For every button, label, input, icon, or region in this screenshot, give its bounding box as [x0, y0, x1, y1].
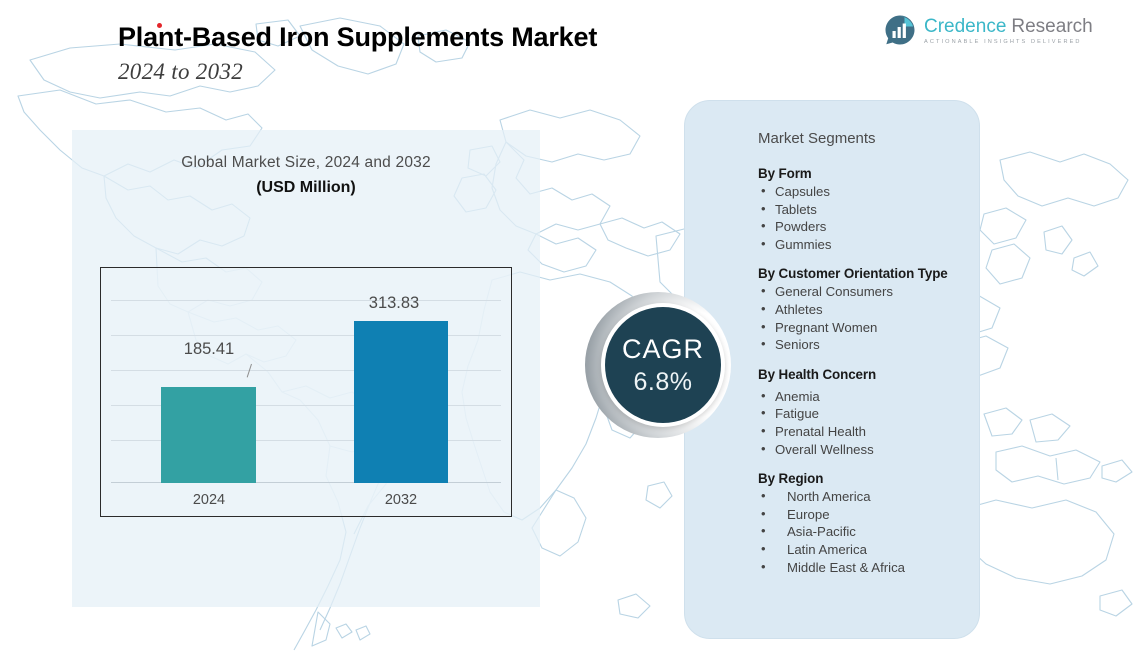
list-item: Athletes [758, 301, 978, 319]
segment-group-by-region: By Region North America Europe Asia-Paci… [758, 471, 978, 576]
chart-title: Global Market Size, 2024 and 2032 [72, 154, 540, 172]
bar-value-2032: 313.83 [334, 294, 454, 313]
segment-group-by-customer-orientation-type: By Customer Orientation Type General Con… [758, 266, 978, 353]
list-item: Overall Wellness [758, 441, 978, 459]
accent-dot-icon [157, 23, 162, 28]
segment-item-list: North America Europe Asia-Pacific Latin … [758, 488, 978, 576]
bar-2032 [354, 321, 448, 483]
logo-brand-secondary: Research [1011, 16, 1092, 37]
infographic-canvas: Plant-Based Iron Supplements Market 2024… [0, 0, 1137, 657]
list-item: Pregnant Women [758, 319, 978, 337]
bar-2024 [161, 387, 256, 483]
segment-item-list: Anemia Fatigue Prenatal Health Overall W… [758, 388, 978, 458]
cagr-label: CAGR [622, 336, 704, 363]
bar-chart: 185.41 313.83 2024 2032 [100, 267, 512, 517]
list-item: Prenatal Health [758, 423, 978, 441]
cagr-badge: CAGR 6.8% [585, 292, 745, 450]
page-title: Plant-Based Iron Supplements Market [118, 22, 597, 53]
category-label-2032: 2032 [341, 492, 461, 508]
list-item: Latin America [758, 541, 978, 559]
segment-group-title: By Customer Orientation Type [758, 266, 978, 281]
logo-tagline: Actionable Insights Delivered [924, 39, 1093, 45]
list-item: Tablets [758, 201, 978, 219]
brand-logo: CredenceResearch Actionable Insights Del… [884, 14, 1093, 46]
segment-group-title: By Region [758, 471, 978, 486]
segment-group-title: By Health Concern [758, 367, 978, 382]
list-item: Seniors [758, 336, 978, 354]
segment-group-title: By Form [758, 166, 978, 181]
segment-group-by-form: By Form Capsules Tablets Powders Gummies [758, 166, 978, 253]
bar-value-2024: 185.41 [149, 340, 269, 359]
segment-group-by-health-concern: By Health Concern Anemia Fatigue Prenata… [758, 367, 978, 458]
list-item: Europe [758, 506, 978, 524]
cagr-circle: CAGR 6.8% [605, 307, 721, 423]
title-block: Plant-Based Iron Supplements Market 2024… [118, 22, 597, 85]
list-item: Fatigue [758, 405, 978, 423]
chart-units: (USD Million) [72, 179, 540, 197]
list-item: Gummies [758, 236, 978, 254]
segments-heading: Market Segments [758, 130, 978, 147]
list-item: Powders [758, 218, 978, 236]
list-item: Middle East & Africa [758, 559, 978, 577]
plot-area: 185.41 313.83 2024 2032 [101, 268, 511, 516]
list-item: Capsules [758, 183, 978, 201]
bar-chart-circle-icon [884, 14, 916, 46]
logo-brand-primary: Credence [924, 16, 1006, 37]
category-label-2024: 2024 [149, 492, 269, 508]
segment-item-list: Capsules Tablets Powders Gummies [758, 183, 978, 253]
market-segments: Market Segments By Form Capsules Tablets… [758, 130, 978, 589]
list-item: North America [758, 488, 978, 506]
list-item: General Consumers [758, 283, 978, 301]
list-item: Anemia [758, 388, 978, 406]
list-item: Asia-Pacific [758, 523, 978, 541]
chart-title-block: Global Market Size, 2024 and 2032 (USD M… [72, 154, 540, 197]
page-subtitle: 2024 to 2032 [118, 59, 597, 85]
cagr-value: 6.8% [634, 370, 693, 395]
segment-item-list: General Consumers Athletes Pregnant Wome… [758, 283, 978, 353]
